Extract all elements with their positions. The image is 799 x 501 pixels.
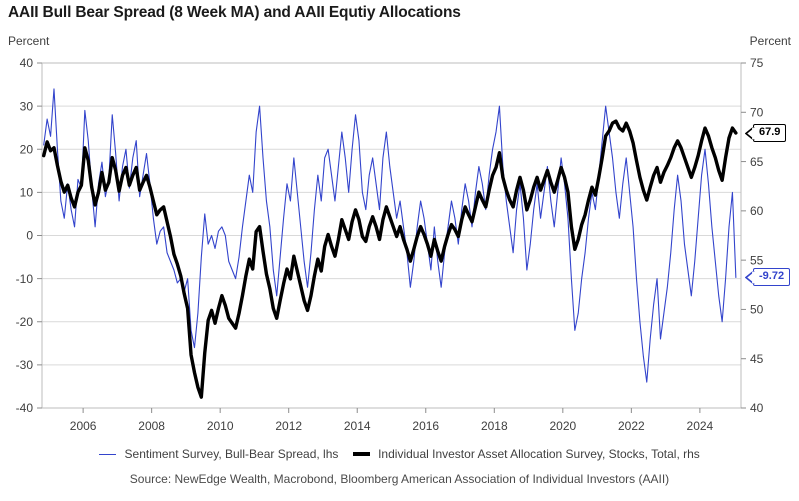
y-axis-label-left: 40 bbox=[20, 56, 34, 70]
callout-lhs-last-value: -9.72 bbox=[753, 268, 790, 286]
x-axis-label: 2020 bbox=[549, 419, 576, 433]
chart-legend: Sentiment Survey, Bull-Bear Spread, lhs … bbox=[0, 446, 799, 461]
x-axis-label: 2006 bbox=[70, 419, 97, 433]
y-axis-label-right: 70 bbox=[750, 105, 764, 119]
y-axis-label-left: 30 bbox=[20, 99, 34, 113]
x-axis-label: 2008 bbox=[138, 419, 165, 433]
y-axis-label-right: 65 bbox=[750, 155, 764, 169]
x-axis-label: 2016 bbox=[412, 419, 439, 433]
chart-container: AAII Bull Bear Spread (8 Week MA) and AA… bbox=[0, 0, 799, 501]
y-axis-label-left: 20 bbox=[20, 142, 34, 156]
y-axis-label-right: 40 bbox=[750, 401, 764, 415]
legend-item-sentiment-survey[interactable]: Sentiment Survey, Bull-Bear Spread, lhs bbox=[99, 446, 338, 461]
x-axis-label: 2022 bbox=[618, 419, 645, 433]
y-axis-label-left: -10 bbox=[16, 272, 34, 286]
y-axis-label-left: -20 bbox=[16, 315, 34, 329]
x-axis-label: 2024 bbox=[687, 419, 714, 433]
y-axis-label-right: 50 bbox=[750, 303, 764, 317]
y-axis-label-left: -30 bbox=[16, 358, 34, 372]
source-note: Source: NewEdge Wealth, Macrobond, Bloom… bbox=[0, 472, 799, 486]
callout-blue-value: -9.72 bbox=[759, 270, 784, 282]
y-axis-label-right: 75 bbox=[750, 56, 764, 70]
legend-label-sentiment-survey: Sentiment Survey, Bull-Bear Spread, lhs bbox=[125, 447, 339, 461]
x-axis-label: 2018 bbox=[481, 419, 508, 433]
legend-label-asset-allocation: Individual Investor Asset Allocation Sur… bbox=[378, 447, 700, 461]
x-axis-label: 2012 bbox=[275, 419, 302, 433]
callout-black-value: 67.9 bbox=[759, 126, 780, 138]
y-axis-label-left: 0 bbox=[26, 229, 33, 243]
y-axis-label-right: 55 bbox=[750, 253, 764, 267]
callout-rhs-last-value: 67.9 bbox=[753, 124, 786, 142]
y-axis-label-left: -40 bbox=[16, 401, 34, 415]
legend-swatch-blue-line bbox=[99, 454, 116, 455]
legend-swatch-black-line bbox=[353, 452, 370, 456]
y-axis-label-left: 10 bbox=[20, 186, 34, 200]
x-axis-label: 2014 bbox=[344, 419, 371, 433]
y-axis-label-right: 45 bbox=[750, 352, 764, 366]
y-axis-label-right: 60 bbox=[750, 204, 764, 218]
legend-item-asset-allocation[interactable]: Individual Investor Asset Allocation Sur… bbox=[346, 446, 700, 461]
plot-area: -40-30-20-100102030404045505560657075200… bbox=[0, 0, 799, 445]
x-axis-label: 2010 bbox=[207, 419, 234, 433]
